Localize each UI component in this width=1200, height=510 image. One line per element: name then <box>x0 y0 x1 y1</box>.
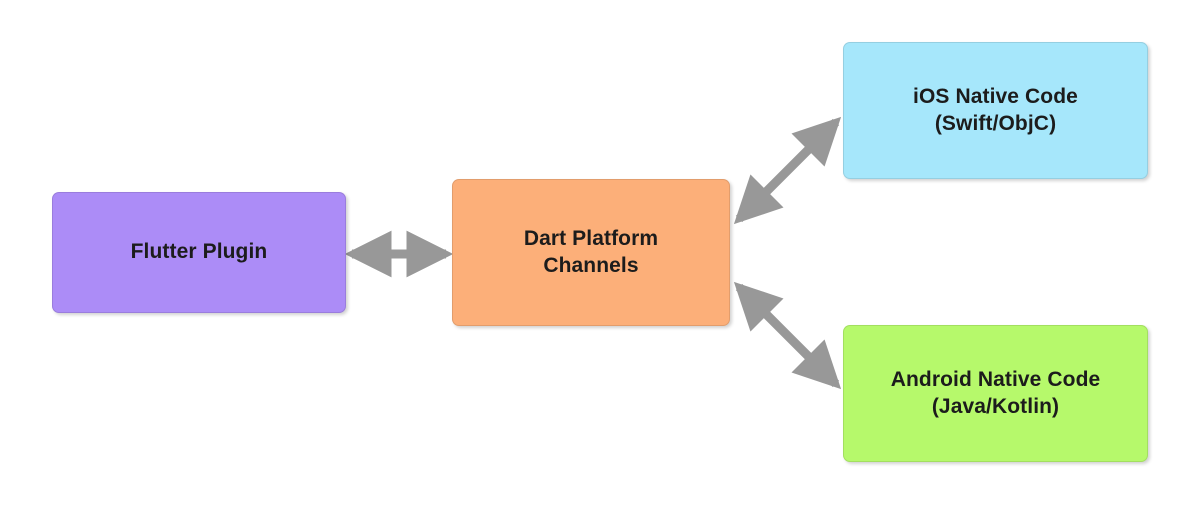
node-android-native-code-label: Android Native Code (Java/Kotlin) <box>881 367 1111 421</box>
node-dart-platform-channels[interactable]: Dart Platform Channels <box>452 179 730 326</box>
connector-dart-platform-channels-to-ios-native-code <box>739 122 836 219</box>
node-dart-platform-channels-label: Dart Platform Channels <box>514 226 668 280</box>
node-ios-native-code[interactable]: iOS Native Code (Swift/ObjC) <box>843 42 1148 179</box>
node-android-native-code[interactable]: Android Native Code (Java/Kotlin) <box>843 325 1148 462</box>
node-flutter-plugin-label: Flutter Plugin <box>121 239 278 266</box>
connector-dart-platform-channels-to-android-native-code <box>739 287 836 384</box>
node-flutter-plugin[interactable]: Flutter Plugin <box>52 192 346 313</box>
node-ios-native-code-label: iOS Native Code (Swift/ObjC) <box>903 84 1088 138</box>
diagram-canvas: Dart Platform Channels --> iOS Native Co… <box>0 0 1200 510</box>
